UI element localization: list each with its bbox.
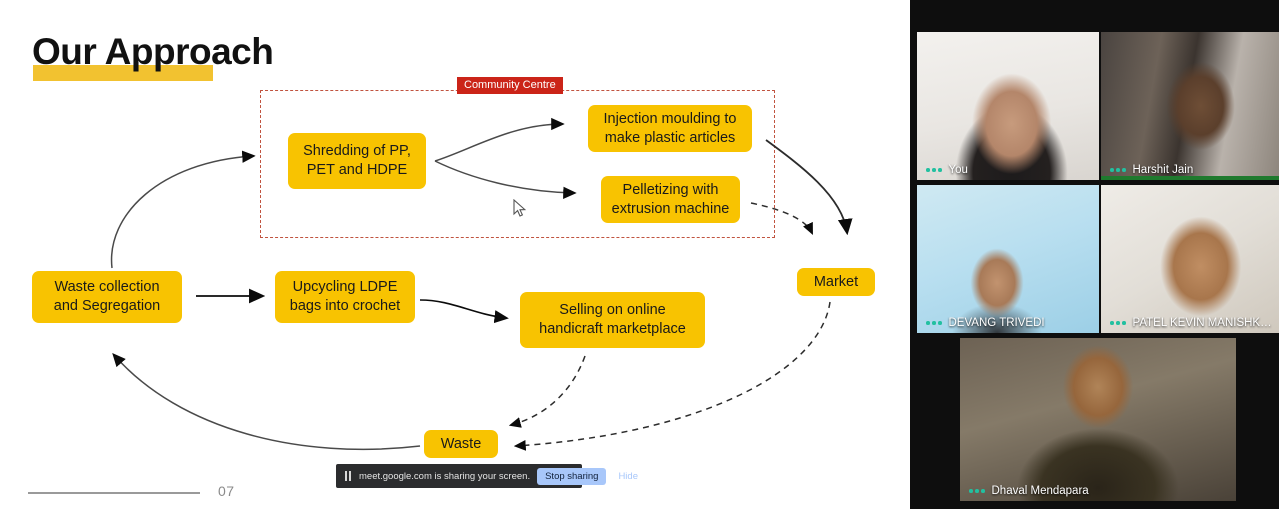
hide-button[interactable]: Hide — [613, 468, 643, 485]
tile-label: PATEL KEVIN MANISHK… — [1101, 317, 1279, 329]
screen-share-bar: meet.google.com is sharing your screen. … — [336, 464, 582, 488]
node-shredding: Shredding of PP, PET and HDPE — [288, 133, 426, 189]
presentation-slide: Our Approach Community Centre — [0, 0, 910, 509]
shared-screen-with-video-panel: Our Approach Community Centre — [0, 0, 1279, 509]
participant-name: DEVANG TRIVEDI — [949, 317, 1045, 329]
video-tile-harshit-jain[interactable]: Harshit Jain — [1101, 32, 1279, 180]
node-pelletizing-label: Pelletizing with extrusion machine — [612, 181, 730, 218]
video-tile-dhaval-mendapara[interactable]: Dhaval Mendapara — [960, 338, 1236, 501]
participant-video-panel: You Harshit Jain DEVANG TRIVEDI PATEL KE… — [910, 0, 1279, 509]
more-options-icon[interactable] — [926, 321, 942, 325]
node-market: Market — [797, 268, 875, 296]
node-upcycling: Upcycling LDPE bags into crochet — [275, 271, 415, 323]
more-options-icon[interactable] — [1110, 168, 1126, 172]
node-waste-collection-label: Waste collection and Segregation — [54, 278, 160, 315]
node-injection-moulding: Injection moulding to make plastic artic… — [588, 105, 752, 152]
participant-name: Harshit Jain — [1133, 164, 1194, 176]
more-options-icon[interactable] — [969, 489, 985, 493]
node-pelletizing: Pelletizing with extrusion machine — [601, 176, 740, 223]
video-tile-patel-kevin[interactable]: PATEL KEVIN MANISHK… — [1101, 185, 1279, 333]
video-tile-devang-trivedi[interactable]: DEVANG TRIVEDI — [917, 185, 1099, 333]
node-injection-label: Injection moulding to make plastic artic… — [604, 110, 737, 147]
participant-name: Dhaval Mendapara — [992, 485, 1089, 497]
tile-label: DEVANG TRIVEDI — [917, 317, 1099, 329]
node-selling-label: Selling on online handicraft marketplace — [539, 301, 686, 338]
node-selling-online: Selling on online handicraft marketplace — [520, 292, 705, 348]
share-status-text: meet.google.com is sharing your screen. — [359, 471, 530, 482]
participant-name: You — [949, 164, 968, 176]
video-feed — [917, 185, 1099, 333]
tile-label: Dhaval Mendapara — [960, 485, 1236, 497]
node-waste: Waste — [424, 430, 498, 458]
video-feed — [917, 32, 1099, 180]
tile-label: Harshit Jain — [1101, 164, 1279, 176]
video-tile-you[interactable]: You — [917, 32, 1099, 180]
node-upcycling-label: Upcycling LDPE bags into crochet — [290, 278, 400, 315]
speaking-indicator — [1101, 176, 1279, 180]
tile-label: You — [917, 164, 1099, 176]
video-feed — [960, 338, 1236, 501]
stop-sharing-button[interactable]: Stop sharing — [537, 468, 606, 485]
more-options-icon[interactable] — [1110, 321, 1126, 325]
node-shredding-label: Shredding of PP, PET and HDPE — [303, 142, 411, 179]
node-waste-collection: Waste collection and Segregation — [32, 271, 182, 323]
pause-icon — [345, 471, 352, 481]
mouse-cursor-icon — [513, 199, 527, 219]
video-feed — [1101, 185, 1279, 333]
participant-name: PATEL KEVIN MANISHK… — [1133, 317, 1272, 329]
video-feed — [1101, 32, 1279, 180]
more-options-icon[interactable] — [926, 168, 942, 172]
